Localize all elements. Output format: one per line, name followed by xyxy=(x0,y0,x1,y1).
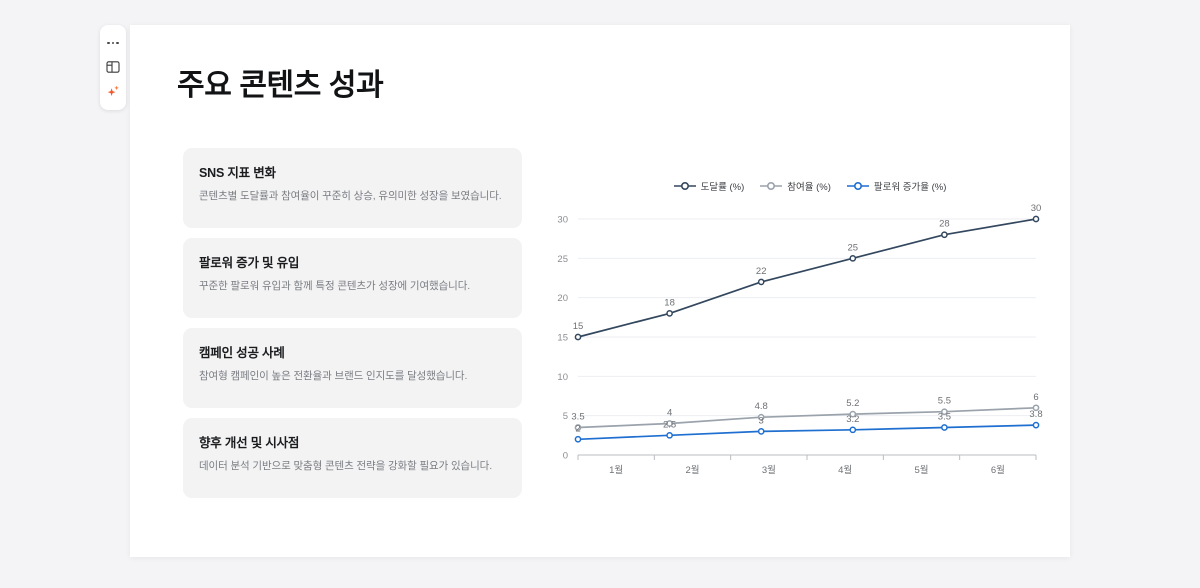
y-axis-tick-label: 10 xyxy=(557,372,568,383)
x-axis-tick-label: 3월 xyxy=(762,464,776,476)
more-options-icon[interactable] xyxy=(103,33,123,53)
legend-item[interactable]: 팔로워 증가율 (%) xyxy=(847,179,947,193)
x-axis-tick-label: 4월 xyxy=(838,464,852,476)
series-line xyxy=(578,219,1036,337)
insight-card[interactable]: 팔로워 증가 및 유입 꾸준한 팔로워 유입과 함께 특정 콘텐츠가 성장에 기… xyxy=(183,238,522,318)
sparkle-glyph xyxy=(106,84,121,99)
x-axis-tick-label: 6월 xyxy=(991,464,1005,476)
series-point[interactable] xyxy=(850,427,855,432)
data-point-label: 28 xyxy=(939,219,950,230)
insight-card[interactable]: 캠페인 성공 사례 참여형 캠페인이 높은 전환율과 브랜드 인지도를 달성했습… xyxy=(183,328,522,408)
data-point-label: 4 xyxy=(667,408,672,419)
sparkle-ai-icon[interactable] xyxy=(103,82,123,102)
data-point-label: 18 xyxy=(664,297,675,308)
data-point-label: 25 xyxy=(848,242,859,253)
insight-card-title: SNS 지표 변화 xyxy=(199,162,506,181)
legend-label: 도달률 (%) xyxy=(701,179,745,193)
page-title: 주요 콘텐츠 성과 xyxy=(177,60,383,104)
chart-series: 151822252830 xyxy=(573,203,1042,340)
legend-label: 팔로워 증가율 (%) xyxy=(874,179,947,193)
legend-marker-icon xyxy=(847,181,869,191)
y-axis-tick-label: 0 xyxy=(563,451,568,462)
data-point-label: 4.8 xyxy=(755,401,768,412)
data-point-label: 3.8 xyxy=(1029,409,1042,420)
series-line xyxy=(578,425,1036,439)
series-point[interactable] xyxy=(575,437,580,442)
series-point[interactable] xyxy=(667,433,672,438)
data-point-label: 22 xyxy=(756,266,767,277)
x-axis-tick-label: 5월 xyxy=(914,464,928,476)
app-stage: 주요 콘텐츠 성과 SNS 지표 변화 콘텐츠별 도달률과 참여율이 꾸준히 상… xyxy=(0,0,1200,588)
series-point[interactable] xyxy=(759,429,764,434)
y-axis-tick-label: 25 xyxy=(557,254,568,265)
y-axis-tick-label: 20 xyxy=(557,293,568,304)
data-point-label: 2.5 xyxy=(663,419,676,430)
floating-toolbar xyxy=(100,25,126,110)
insight-card-description: 콘텐츠별 도달률과 참여율이 꾸준히 상승, 유의미한 성장을 보였습니다. xyxy=(199,188,506,204)
insight-card-title: 캠페인 성공 사례 xyxy=(199,342,506,361)
performance-line-chart: 도달률 (%)참여율 (%)팔로워 증가율 (%) 0510152025301월… xyxy=(530,175,1050,505)
data-point-label: 3 xyxy=(759,415,764,426)
insight-card-title: 팔로워 증가 및 유입 xyxy=(199,252,506,271)
legend-item[interactable]: 도달률 (%) xyxy=(674,179,745,193)
y-axis-tick-label: 5 xyxy=(563,411,568,422)
x-axis-tick-label: 2월 xyxy=(685,464,699,476)
chart-series: 3.544.85.25.56 xyxy=(571,392,1038,430)
series-point[interactable] xyxy=(1033,216,1038,221)
series-point[interactable] xyxy=(1033,423,1038,428)
insight-card-description: 데이터 분석 기반으로 맞춤형 콘텐츠 전략을 강화할 필요가 있습니다. xyxy=(199,458,506,474)
series-point[interactable] xyxy=(575,334,580,339)
insight-card[interactable]: SNS 지표 변화 콘텐츠별 도달률과 참여율이 꾸준히 상승, 유의미한 성장… xyxy=(183,148,522,228)
slide-canvas: 주요 콘텐츠 성과 SNS 지표 변화 콘텐츠별 도달률과 참여율이 꾸준히 상… xyxy=(130,25,1070,557)
x-axis-tick-label: 1월 xyxy=(609,464,623,476)
layout-panel-glyph xyxy=(106,60,120,74)
y-axis-tick-label: 15 xyxy=(557,333,568,344)
insight-card-list: SNS 지표 변화 콘텐츠별 도달률과 참여율이 꾸준히 상승, 유의미한 성장… xyxy=(183,148,522,498)
layout-panel-icon[interactable] xyxy=(103,57,123,77)
series-point[interactable] xyxy=(942,232,947,237)
data-point-label: 5.2 xyxy=(846,398,859,409)
data-point-label: 15 xyxy=(573,321,584,332)
data-point-label: 2 xyxy=(575,423,580,434)
chart-legend: 도달률 (%)참여율 (%)팔로워 증가율 (%) xyxy=(570,175,1050,197)
insight-card-description: 참여형 캠페인이 높은 전환율과 브랜드 인지도를 달성했습니다. xyxy=(199,368,506,384)
series-point[interactable] xyxy=(942,425,947,430)
data-point-label: 5.5 xyxy=(938,396,951,407)
data-point-label: 30 xyxy=(1031,203,1042,214)
chart-series: 22.533.23.53.8 xyxy=(575,409,1042,442)
legend-marker-icon xyxy=(760,181,782,191)
insight-card-description: 꾸준한 팔로워 유입과 함께 특정 콘텐츠가 성장에 기여했습니다. xyxy=(199,278,506,294)
chart-plot-area: 0510152025301월2월3월4월5월6월1518222528303.54… xyxy=(530,197,1050,497)
data-point-label: 6 xyxy=(1033,392,1038,403)
insight-card[interactable]: 향후 개선 및 시사점 데이터 분석 기반으로 맞춤형 콘텐츠 전략을 강화할 … xyxy=(183,418,522,498)
ellipsis-glyph xyxy=(107,42,119,45)
legend-label: 참여율 (%) xyxy=(787,179,831,193)
series-point[interactable] xyxy=(667,311,672,316)
data-point-label: 3.5 xyxy=(571,411,584,422)
legend-marker-icon xyxy=(674,181,696,191)
insight-card-title: 향후 개선 및 시사점 xyxy=(199,432,506,451)
series-point[interactable] xyxy=(850,256,855,261)
series-point[interactable] xyxy=(759,279,764,284)
data-point-label: 3.5 xyxy=(938,411,951,422)
legend-item[interactable]: 참여율 (%) xyxy=(760,179,831,193)
data-point-label: 3.2 xyxy=(846,414,859,425)
series-line xyxy=(578,408,1036,428)
y-axis-tick-label: 30 xyxy=(557,215,568,226)
